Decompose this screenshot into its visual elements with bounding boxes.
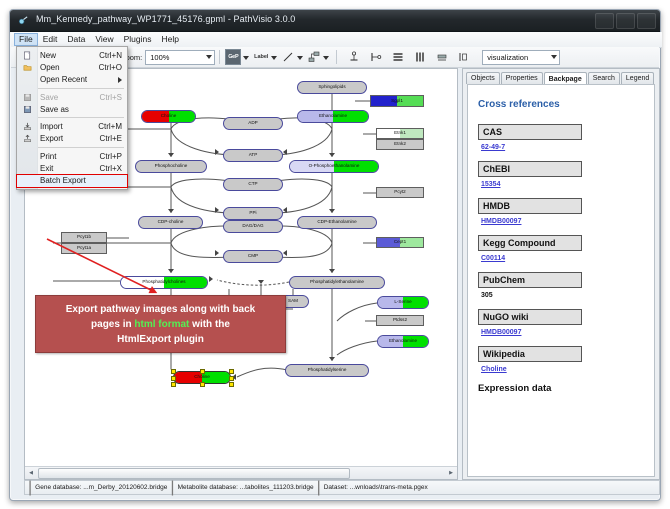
pathway-node-ctp[interactable]: CTP [223, 178, 283, 191]
backpage-inner: Cross references CAS62-49-7ChEBI15354HMD… [468, 85, 654, 400]
menu-plugins[interactable]: Plugins [119, 33, 157, 46]
no-icon [17, 150, 37, 162]
pathway-node-cdp-choline[interactable]: CDP-choline [138, 216, 203, 229]
pathway-node-label: Choline [194, 375, 210, 380]
maximize-button[interactable] [616, 13, 635, 29]
arrowhead-choline-down [168, 153, 174, 157]
visualization-combobox[interactable]: visualization [482, 50, 560, 65]
interaction-dropdown-icon[interactable] [323, 56, 329, 60]
tab-properties[interactable]: Properties [501, 72, 543, 84]
canvas-horizontal-scrollbar[interactable]: ◀ ▶ [25, 466, 457, 479]
label-dropdown-icon[interactable] [271, 56, 277, 60]
pathway-node-label: Phosphatidylethanolamine [310, 280, 364, 285]
annotation-highlight: html format [134, 319, 189, 330]
pathway-node-dag-dag[interactable]: DAG/DAG [223, 220, 283, 233]
status-gene-database: Gene database: ...m_Derby_20120602.bridg… [35, 484, 167, 491]
submenu-arrow-icon [118, 77, 122, 83]
annotation-arrow [45, 237, 175, 301]
pathway-node-label: Pcyt2 [394, 190, 406, 195]
arrowhead-etha-down [329, 153, 335, 157]
pathway-node-label: Phosphatidylserine [308, 368, 347, 373]
pathway-node-label: SAM [288, 299, 298, 304]
save-disk-icon [17, 91, 37, 103]
annotation-line1: Export pathway images along with back [66, 304, 256, 315]
common-height-icon[interactable] [457, 50, 471, 64]
file-menu-shortcut: Ctrl+S [100, 93, 127, 102]
menu-file[interactable]: File [14, 33, 38, 46]
pathway-node-pcyt2[interactable]: Pcyt2 [376, 187, 424, 198]
xref-label-chebi: ChEBI [478, 161, 582, 177]
file-menu-label: Import [37, 122, 98, 131]
pathway-node-label: ATP [249, 153, 258, 158]
pathway-node-cept1[interactable]: Cept1 [376, 237, 424, 248]
annotation-text: Export pathway images along with back pa… [60, 302, 262, 347]
backpage-content[interactable]: Cross references CAS62-49-7ChEBI15354HMD… [467, 84, 655, 477]
window-controls[interactable] [595, 13, 656, 29]
pathway-node-ptdss2[interactable]: Ptdss2 [376, 315, 424, 326]
annotation-line2-a: pages in [91, 319, 134, 330]
close-button[interactable] [637, 13, 656, 29]
arrowhead-sam-branch [258, 280, 264, 284]
application-window: Mm_Kennedy_pathway_WP1771_45176.gpml - P… [9, 9, 661, 501]
open-folder-icon [17, 61, 37, 73]
align-left-icon[interactable] [369, 50, 383, 64]
status-metabolite-database: Metabolite database: ...tabolites_111203… [178, 484, 314, 491]
pathway-node-choline-top[interactable]: Choline [141, 110, 196, 123]
file-menu-label: Print [37, 152, 100, 161]
file-menu-separator [38, 117, 124, 118]
pathway-node-label: PPi [249, 211, 256, 216]
title-bar: Mm_Kennedy_pathway_WP1771_45176.gpml - P… [10, 10, 660, 32]
tab-search[interactable]: Search [588, 72, 620, 84]
side-panel-tabs: Objects Properties Backpage Search Legen… [463, 69, 659, 84]
arrowhead-ppi-left [215, 207, 219, 213]
file-menu-label: Export [37, 134, 100, 143]
pathway-node-cmp[interactable]: CMP [223, 250, 283, 263]
file-menu-shortcut: Ctrl+E [100, 134, 127, 143]
menu-data[interactable]: Data [62, 33, 90, 46]
selection-handle[interactable] [229, 376, 234, 381]
status-divider-2: | [314, 479, 324, 497]
pathway-node-ethanolamine-top[interactable]: Ethanolamine [297, 110, 369, 123]
arrowhead-pe-to-ps [329, 357, 335, 361]
annotation-callout: Export pathway images along with back pa… [35, 295, 286, 353]
file-menu-shortcut: Ctrl+P [100, 152, 127, 161]
toolbar-separator [219, 50, 220, 64]
arrowhead-pchol-down [168, 209, 174, 213]
file-menu-item-exit[interactable]: ExitCtrl+X [17, 162, 127, 174]
pathway-node-label: Choline [161, 114, 177, 119]
distribute-horizontal-icon[interactable] [413, 50, 427, 64]
pathway-node-ethanolamine-right[interactable]: Ethanolamine [377, 335, 429, 348]
cross-references-heading: Cross references [478, 99, 644, 110]
minimize-button[interactable] [595, 13, 614, 29]
pathway-node-label: Sgpl1 [391, 99, 403, 104]
pathway-node-label: Ethanolamine [319, 114, 347, 119]
arrowhead-ope-down [329, 209, 335, 213]
pathway-node-o-phosphoethanolamine[interactable]: O-Phosphoethanolamine [289, 160, 379, 173]
chevron-down-icon-2 [551, 55, 557, 59]
scroll-left-icon[interactable]: ◀ [25, 467, 37, 479]
status-divider-0: | [25, 479, 35, 497]
file-menu-dropdown[interactable]: NewCtrl+NOpenCtrl+OOpen RecentSaveCtrl+S… [16, 46, 128, 190]
file-menu-label: Batch Export [37, 176, 122, 185]
pathway-node-phosphatidylserine[interactable]: Phosphatidylserine [285, 364, 369, 377]
xref-label-cas: CAS [478, 124, 582, 140]
xref-value-pubchem: 305 [481, 292, 644, 299]
file-menu-shortcut: Ctrl+N [99, 51, 127, 60]
no-icon [17, 74, 37, 86]
file-menu-separator [38, 88, 124, 89]
side-panel: Objects Properties Backpage Search Legen… [462, 68, 660, 480]
arrowhead-ppi-right [283, 207, 287, 213]
file-menu-label: Save [37, 93, 100, 102]
file-menu-item-import[interactable]: ImportCtrl+M [17, 120, 127, 132]
file-menu-item-open-recent[interactable]: Open Recent [17, 74, 127, 86]
pathway-node-label: CDP-Ethanolamine [317, 220, 356, 225]
visualization-value: visualization [487, 53, 528, 62]
scroll-right-icon[interactable]: ▶ [445, 467, 457, 479]
tab-objects[interactable]: Objects [466, 72, 500, 84]
pathway-node-phosphatidylethanolamine[interactable]: Phosphatidylethanolamine [289, 276, 385, 289]
arrowhead-atp-left [215, 149, 219, 155]
pathway-node-label: L-Serine [394, 300, 411, 305]
pathway-node-etnk2[interactable]: Etnk2 [376, 139, 424, 150]
pathway-node-label: Ptdss2 [393, 318, 407, 323]
selection-handle[interactable] [171, 369, 176, 374]
pathway-node-label: Etnk1 [394, 131, 406, 136]
xref-value-hmdb[interactable]: HMDB00097 [481, 218, 644, 225]
pathway-node-atp[interactable]: ATP [223, 149, 283, 162]
pathway-node-label: CTP [248, 182, 257, 187]
xref-value-cas[interactable]: 62-49-7 [481, 144, 644, 151]
pathway-node-label: Phosphocholine [155, 164, 188, 169]
distribute-vertical-icon[interactable] [391, 50, 405, 64]
pathway-node-label: Sphingolipids [318, 85, 345, 90]
arrowhead-pe-to-pc [209, 276, 213, 282]
file-menu-item-save-as[interactable]: Save as [17, 103, 127, 115]
xref-label-hmdb: HMDB [478, 198, 582, 214]
toolbar-separator-2 [336, 50, 337, 64]
xref-label-nugo-wiki: NuGO wiki [478, 309, 582, 325]
pathway-node-label: DAG/DAG [242, 224, 263, 229]
arrowhead-cmp-left [215, 250, 219, 256]
status-bar: | Gene database: ...m_Derby_20120602.bri… [24, 480, 660, 495]
zoom-combobox[interactable]: 100% [145, 50, 215, 65]
annotation-line3: HtmlExport plugin [117, 334, 204, 345]
file-menu-shortcut: Ctrl+X [100, 164, 127, 173]
common-width-icon[interactable] [435, 50, 449, 64]
file-menu-shortcut: Ctrl+M [98, 122, 127, 131]
arrowhead-atp-right [283, 149, 287, 155]
pathway-node-label: Cept1 [394, 240, 406, 245]
annotation-line2-b: with the [189, 319, 230, 330]
file-menu-label: Open Recent [37, 75, 118, 84]
menu-help[interactable]: Help [157, 33, 184, 46]
pathway-node-cdp-ethanolamine[interactable]: CDP-Ethanolamine [297, 216, 377, 229]
expression-data-heading: Expression data [478, 383, 644, 394]
line-dropdown-icon[interactable] [297, 56, 303, 60]
zoom-value: 100% [150, 53, 169, 62]
xref-label-pubchem: PubChem [478, 272, 582, 288]
xref-value-wikipedia[interactable]: Choline [481, 366, 644, 373]
cross-reference-list: CAS62-49-7ChEBI15354HMDBHMDB00097Kegg Co… [478, 124, 644, 373]
pathway-node-ppi[interactable]: PPi [223, 207, 283, 220]
pathway-node-label: CMP [248, 254, 258, 259]
datanode-dropdown-icon[interactable] [243, 56, 249, 60]
file-menu-item-batch-export[interactable]: Batch Export [17, 175, 127, 187]
menu-edit[interactable]: Edit [38, 33, 63, 46]
pathway-node-label: Etnk2 [394, 142, 406, 147]
xref-value-kegg-compound[interactable]: C00114 [481, 255, 644, 262]
align-top-icon[interactable] [347, 50, 361, 64]
arrowhead-cmp-right [283, 250, 287, 256]
pathway-node-sgpl1[interactable]: Sgpl1 [370, 95, 424, 107]
screenshot-root: Mm_Kennedy_pathway_WP1771_45176.gpml - P… [0, 0, 670, 509]
interaction-tool-icon[interactable] [307, 50, 321, 64]
new-file-icon [17, 49, 37, 61]
pathvisio-icon [18, 15, 29, 26]
pathway-node-etnk1[interactable]: Etnk1 [376, 128, 424, 139]
export-icon [17, 133, 37, 145]
file-menu-label: New [37, 51, 99, 60]
file-menu-separator [38, 147, 124, 148]
xref-label-wikipedia: Wikipedia [478, 346, 582, 362]
label-tool-icon[interactable]: Label [253, 50, 269, 64]
xref-value-chebi[interactable]: 15354 [481, 181, 644, 188]
file-menu-label: Open [37, 63, 99, 72]
window-title: Mm_Kennedy_pathway_WP1771_45176.gpml - P… [36, 14, 295, 24]
selection-handle[interactable] [229, 382, 234, 387]
arrowhead-cdpetha-down [329, 269, 335, 273]
file-menu-label: Save as [37, 105, 122, 114]
selection-handle[interactable] [200, 382, 205, 387]
file-menu-item-open[interactable]: OpenCtrl+O [17, 61, 127, 73]
line-tool-icon[interactable] [281, 50, 295, 64]
no-icon [17, 175, 37, 187]
xref-label-kegg-compound: Kegg Compound [478, 235, 582, 251]
pathway-node-label: Ethanolamine [389, 339, 417, 344]
chevron-down-icon [206, 55, 212, 59]
file-menu-item-print[interactable]: PrintCtrl+P [17, 150, 127, 162]
status-divider-1: | [167, 479, 177, 497]
selection-handle[interactable] [171, 376, 176, 381]
selection-handle[interactable] [229, 369, 234, 374]
pathway-node-phosphocholine[interactable]: Phosphocholine [135, 160, 207, 173]
pathway-node-label: O-Phosphoethanolamine [309, 164, 360, 169]
pathway-node-adp[interactable]: ADP [223, 117, 283, 130]
pathway-node-sphingolipids[interactable]: Sphingolipids [297, 81, 367, 94]
file-menu-shortcut: Ctrl+O [99, 63, 127, 72]
import-icon [17, 121, 37, 133]
menu-view[interactable]: View [90, 33, 118, 46]
file-menu-item-export[interactable]: ExportCtrl+E [17, 133, 127, 145]
pathway-node-label: ADP [248, 121, 257, 126]
xref-value-nugo-wiki[interactable]: HMDB00097 [481, 329, 644, 336]
status-dataset: Dataset: ...wnloads\trans-meta.pgex [324, 484, 428, 491]
datanode-tool-icon[interactable]: GeP [225, 49, 241, 65]
selection-handle[interactable] [171, 382, 176, 387]
pathway-node-label: CDP-choline [158, 220, 184, 225]
save-as-icon [17, 103, 37, 115]
file-menu-item-save: SaveCtrl+S [17, 91, 127, 103]
tab-legend[interactable]: Legend [621, 72, 654, 84]
scrollbar-thumb[interactable] [38, 468, 350, 479]
file-menu-label: Exit [37, 164, 100, 173]
no-icon [17, 163, 37, 175]
file-menu-item-new[interactable]: NewCtrl+N [17, 49, 127, 61]
pathway-node-l-serine[interactable]: L-Serine [377, 296, 429, 309]
